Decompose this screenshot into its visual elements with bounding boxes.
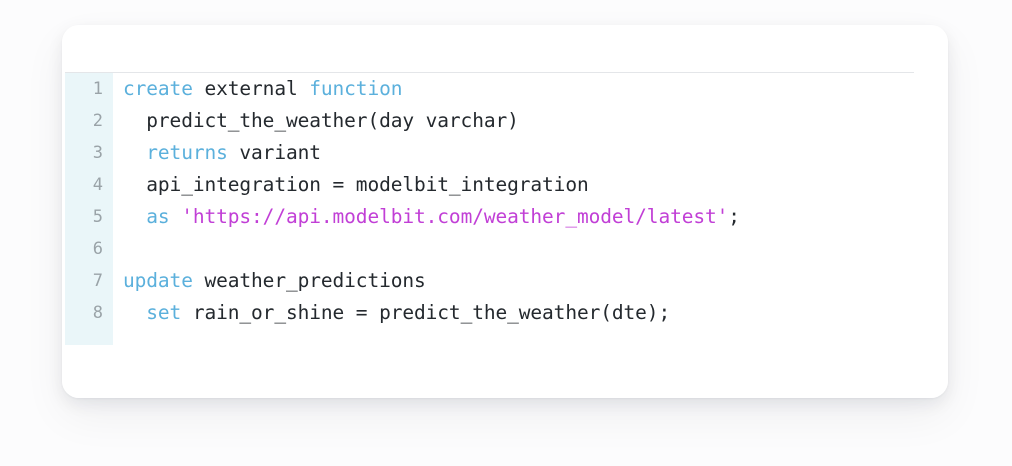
code-line[interactable]: 5 as 'https://api.modelbit.com/weather_m… bbox=[62, 201, 948, 233]
code-token-keyword: create bbox=[123, 77, 193, 100]
code-indent bbox=[123, 109, 146, 132]
code-line-content: as 'https://api.modelbit.com/weather_mod… bbox=[123, 201, 740, 233]
code-line[interactable]: 1create external function bbox=[62, 73, 948, 105]
code-line[interactable]: 4 api_integration = modelbit_integration bbox=[62, 169, 948, 201]
screenshot-root: 1create external function2 predict_the_w… bbox=[0, 0, 1012, 466]
line-number: 1 bbox=[65, 73, 103, 105]
code-token-plain: ; bbox=[728, 205, 740, 228]
code-token-keyword: returns bbox=[146, 141, 227, 164]
code-line[interactable]: 7update weather_predictions bbox=[62, 265, 948, 297]
code-line-list: 1create external function2 predict_the_w… bbox=[62, 73, 948, 329]
code-indent bbox=[123, 301, 146, 324]
code-line[interactable]: 3 returns variant bbox=[62, 137, 948, 169]
code-token-plain: external bbox=[193, 77, 309, 100]
code-token-string: 'https://api.modelbit.com/weather_model/… bbox=[181, 205, 728, 228]
code-token-plain: weather_predictions bbox=[193, 269, 426, 292]
code-token-keyword: as bbox=[146, 205, 169, 228]
code-line-content: returns variant bbox=[123, 137, 321, 169]
line-number: 8 bbox=[65, 297, 103, 329]
code-editor[interactable]: 1create external function2 predict_the_w… bbox=[62, 73, 948, 398]
code-line-content: predict_the_weather(day varchar) bbox=[123, 105, 519, 137]
code-indent bbox=[123, 173, 146, 196]
code-token-plain: rain_or_shine = predict_the_weather(dte)… bbox=[181, 301, 670, 324]
code-line-content: create external function bbox=[123, 73, 402, 105]
code-token-plain: variant bbox=[228, 141, 321, 164]
code-line-content: update weather_predictions bbox=[123, 265, 426, 297]
code-token-keyword: set bbox=[146, 301, 181, 324]
code-line[interactable]: 2 predict_the_weather(day varchar) bbox=[62, 105, 948, 137]
code-snippet-card: 1create external function2 predict_the_w… bbox=[62, 25, 948, 398]
line-number: 2 bbox=[65, 105, 103, 137]
editor-toolbar bbox=[62, 25, 948, 72]
code-token-plain: predict_the_weather(day varchar) bbox=[146, 109, 518, 132]
code-line-content: api_integration = modelbit_integration bbox=[123, 169, 589, 201]
code-token-keyword: update bbox=[123, 269, 193, 292]
code-line-content: set rain_or_shine = predict_the_weather(… bbox=[123, 297, 670, 329]
code-line[interactable]: 6 bbox=[62, 233, 948, 265]
code-token-plain bbox=[170, 205, 182, 228]
code-indent bbox=[123, 141, 146, 164]
line-number: 6 bbox=[65, 233, 103, 265]
code-indent bbox=[123, 205, 146, 228]
code-token-plain: api_integration = modelbit_integration bbox=[146, 173, 588, 196]
line-number: 4 bbox=[65, 169, 103, 201]
line-number: 5 bbox=[65, 201, 103, 233]
line-number: 3 bbox=[65, 137, 103, 169]
line-number: 7 bbox=[65, 265, 103, 297]
code-token-keyword: function bbox=[309, 77, 402, 100]
code-line[interactable]: 8 set rain_or_shine = predict_the_weathe… bbox=[62, 297, 948, 329]
